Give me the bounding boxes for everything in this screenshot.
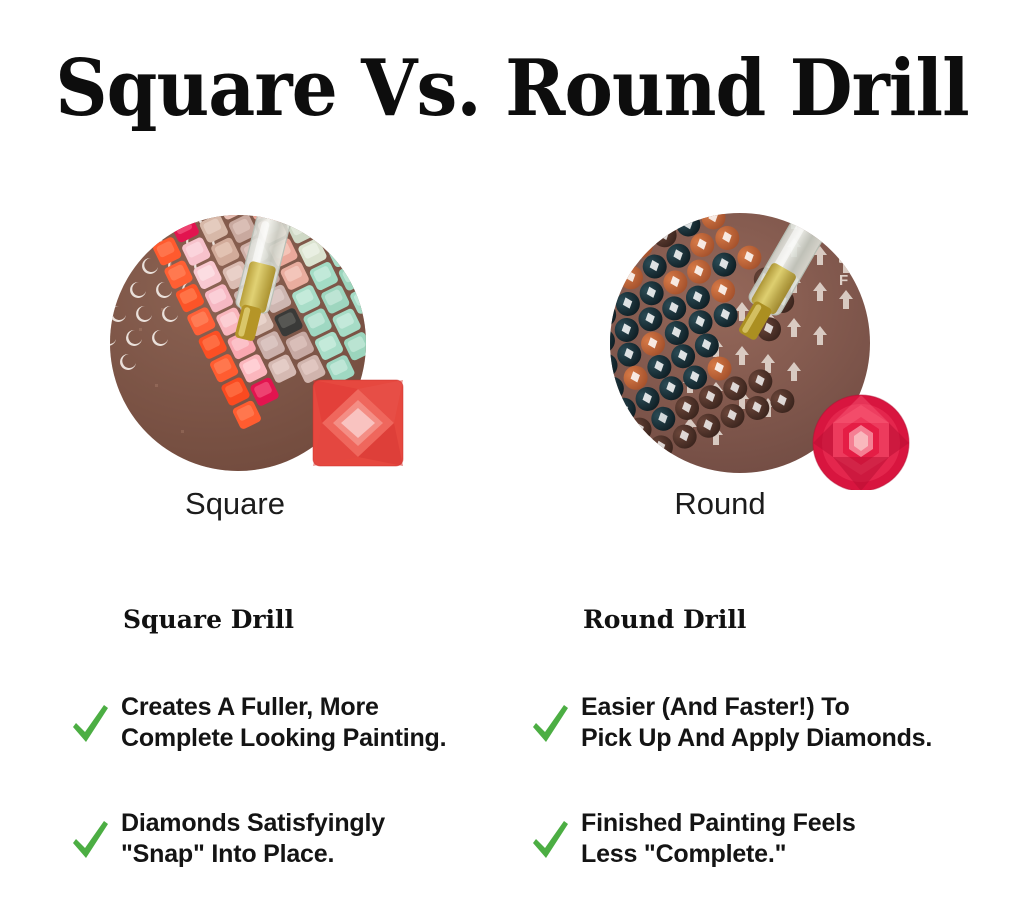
infographic-root: Square Vs. Round Drill <box>0 0 1024 923</box>
check-icon <box>530 817 570 861</box>
check-icon <box>70 701 110 745</box>
list-item-label: Diamonds Satisfyingly "Snap" Into Place. <box>121 808 385 870</box>
list-item-label: Finished Painting Feels Less "Complete." <box>581 808 856 870</box>
list-item: Finished Painting Feels Less "Complete." <box>530 808 960 870</box>
page-title: Square Vs. Round Drill <box>36 46 988 132</box>
svg-text:E: E <box>838 249 848 266</box>
round-drill-bullets: Easier (And Faster!) To Pick Up And Appl… <box>530 692 960 870</box>
square-gem <box>313 380 403 466</box>
list-item: Easier (And Faster!) To Pick Up And Appl… <box>530 692 960 754</box>
list-item-label: Easier (And Faster!) To Pick Up And Appl… <box>581 692 932 754</box>
square-drill-heading: Square Drill <box>123 604 500 636</box>
round-drill-photo-image: E F <box>590 200 920 490</box>
square-drill-photo <box>95 200 425 490</box>
list-item: Diamonds Satisfyingly "Snap" Into Place. <box>70 808 500 870</box>
square-photo-caption: Square <box>70 484 400 524</box>
round-gem <box>813 395 909 490</box>
round-drill-column: Round Drill Easier (And Faster!) To Pick… <box>530 604 960 870</box>
list-item-label: Creates A Fuller, More Complete Looking … <box>121 692 446 754</box>
square-drill-photo-image <box>95 200 425 490</box>
square-drill-column: Square Drill Creates A Fuller, More Comp… <box>70 604 500 870</box>
check-icon <box>530 701 570 745</box>
check-icon <box>70 817 110 861</box>
round-drill-photo: E F <box>590 200 920 490</box>
list-item: Creates A Fuller, More Complete Looking … <box>70 692 500 754</box>
round-drill-heading: Round Drill <box>583 604 960 636</box>
square-drill-bullets: Creates A Fuller, More Complete Looking … <box>70 692 500 870</box>
round-photo-caption: Round <box>555 484 885 524</box>
svg-text:F: F <box>839 272 848 289</box>
